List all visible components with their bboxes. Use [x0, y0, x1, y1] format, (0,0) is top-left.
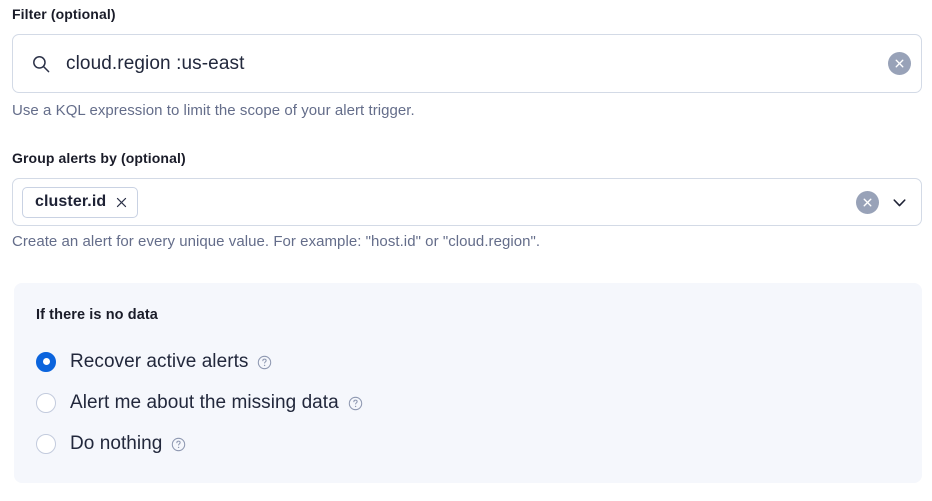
radio-option-alert-missing-data[interactable]: Alert me about the missing data: [36, 382, 922, 423]
radio-button[interactable]: [36, 393, 56, 413]
chevron-down-icon[interactable]: [890, 193, 909, 212]
filter-help-text: Use a KQL expression to limit the scope …: [12, 102, 415, 119]
radio-label: Recover active alerts: [70, 351, 248, 373]
radio-option-recover-active-alerts[interactable]: Recover active alerts: [36, 341, 922, 382]
no-data-panel: If there is no data Recover active alert…: [14, 283, 922, 483]
radio-label: Do nothing: [70, 433, 162, 455]
group-field-pill[interactable]: cluster.id: [22, 187, 138, 218]
group-alerts-label: Group alerts by (optional): [12, 150, 186, 166]
filter-label: Filter (optional): [12, 6, 116, 22]
search-icon: [31, 54, 51, 74]
filter-input[interactable]: cloud.region :us-east: [12, 34, 922, 93]
question-in-circle-icon[interactable]: [171, 437, 186, 452]
group-clear-icon[interactable]: [856, 191, 879, 214]
radio-button[interactable]: [36, 352, 56, 372]
group-alerts-help-text: Create an alert for every unique value. …: [12, 233, 540, 250]
close-icon[interactable]: [115, 196, 128, 209]
question-in-circle-icon[interactable]: [348, 396, 363, 411]
filter-value: cloud.region :us-east: [66, 53, 888, 75]
group-field-pill-label: cluster.id: [35, 193, 106, 211]
radio-option-do-nothing[interactable]: Do nothing: [36, 423, 922, 464]
question-in-circle-icon[interactable]: [257, 355, 272, 370]
no-data-title: If there is no data: [36, 307, 922, 323]
group-alerts-combobox[interactable]: cluster.id: [12, 178, 922, 226]
filter-clear-icon[interactable]: [888, 52, 911, 75]
radio-label: Alert me about the missing data: [70, 392, 339, 414]
alert-rule-form: Filter (optional) cloud.region :us-east …: [0, 0, 932, 501]
radio-button[interactable]: [36, 434, 56, 454]
